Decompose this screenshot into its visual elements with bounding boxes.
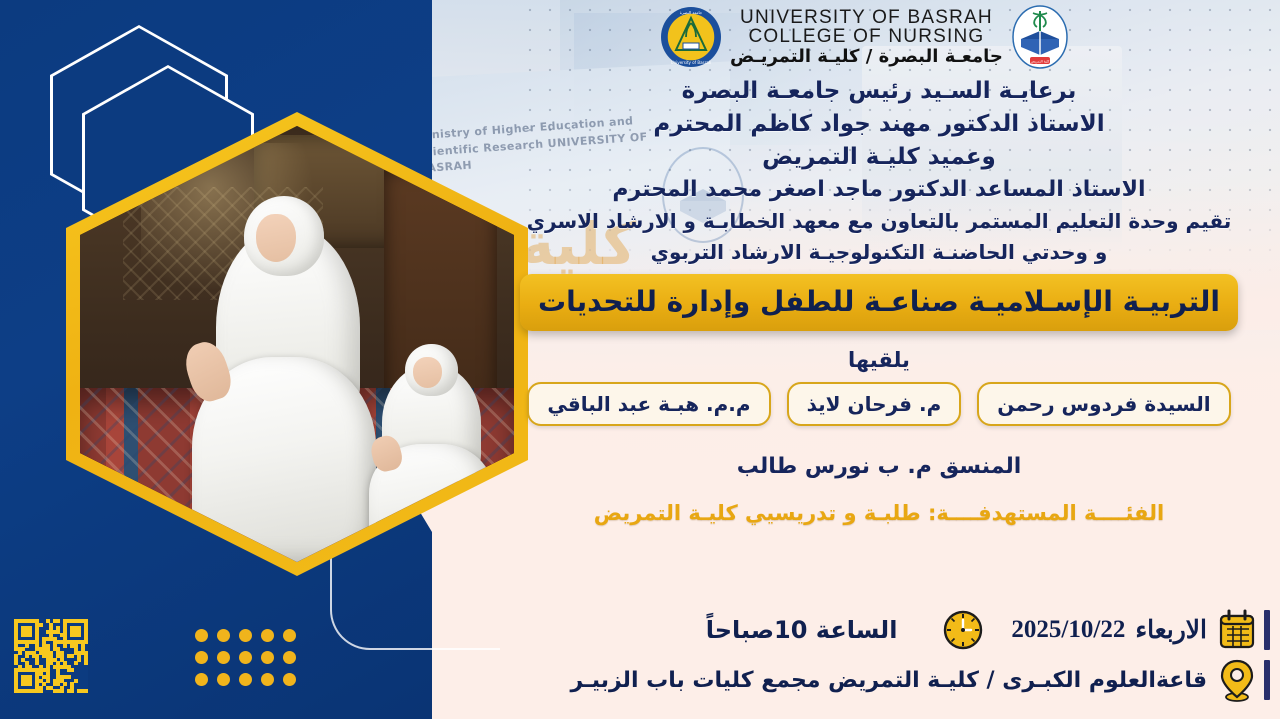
university-title: UNIVERSITY OF BASRAH COLLEGE OF NURSING …	[730, 8, 1003, 66]
patronage-line-3: وعميد كليـة التمريض	[496, 144, 1262, 170]
delivered-by-label: يلقيها	[496, 348, 1262, 372]
speaker-pill: م.م. هبـة عبد الباقي	[527, 382, 770, 426]
event-time: الساعة 10صباحاً	[706, 616, 898, 644]
event-poster: Ministry of Higher Education and Scienti…	[0, 0, 1280, 719]
patronage-line-1: برعايـة السـيد رئيس جامعـة البصرة	[496, 78, 1262, 104]
location-icon-wrap	[1217, 658, 1270, 702]
poster-content: برعايـة السـيد رئيس جامعـة البصرة الاستا…	[496, 78, 1262, 525]
university-title-en-line1: UNIVERSITY OF BASRAH	[730, 8, 1003, 27]
organizer-line-1: تقيم وحدة التعليم المستمر بالتعاون مع مع…	[496, 209, 1262, 233]
svg-text:جامعة البصرة: جامعة البصرة	[680, 10, 703, 15]
event-details: الاربعاء 2025/10/22 الساعة 10صباحاً	[10, 608, 1270, 708]
event-date: 2025/10/22	[1011, 616, 1125, 644]
accent-bar	[1264, 660, 1270, 700]
calendar-icon	[1217, 609, 1257, 651]
event-day: الاربعاء	[1135, 615, 1207, 645]
calendar-icon-wrap	[1217, 609, 1270, 651]
coordinator-line: المنسق م. ب نورس طالب	[496, 454, 1262, 479]
speaker-pill: السيدة فردوس رحمن	[977, 382, 1230, 426]
svg-text:University of Basrah: University of Basrah	[671, 60, 712, 65]
accent-bar	[1264, 610, 1270, 650]
university-title-ar: جامعـة البصرة / كليـة التمريـض	[730, 48, 1003, 66]
location-row: قاعة‌العلوم الكبـرى / كليـة التمريض مجمع…	[10, 658, 1270, 702]
patronage-line-2: الاستاذ الدكتور مهند جواد كاظم المحترم	[496, 111, 1262, 137]
college-of-nursing-seal-icon: كلية التمريض	[1011, 5, 1069, 69]
date-time-row: الاربعاء 2025/10/22 الساعة 10صباحاً	[10, 608, 1270, 652]
event-title-banner: التربيـة الإسـلاميـة صناعـة للطفل وإدارة…	[520, 274, 1238, 331]
patronage-line-4: الاستاذ المساعد الدكتور ماجد اصغر محمد ا…	[496, 177, 1262, 202]
location-pin-icon	[1217, 658, 1257, 702]
svg-text:كلية التمريض: كلية التمريض	[1031, 60, 1050, 64]
clock-icon	[941, 608, 985, 652]
organizer-line-2: و وحدتي الحاضنـة التكنولوجيـة الارشاد ال…	[496, 240, 1262, 264]
university-title-en-line2: COLLEGE OF NURSING	[730, 27, 1003, 46]
target-audience-line: الفئــــة المستهدفــــة: طلبـة و تدريسيي…	[496, 501, 1262, 525]
university-of-basrah-seal-icon: جامعة البصرة University of Basrah	[660, 6, 722, 68]
poster-header: جامعة البصرة University of Basrah UNIVER…	[660, 4, 1100, 70]
speaker-list: السيدة فردوس رحمن م. فرحان لايذ م.م. هبـ…	[496, 382, 1262, 426]
event-place: قاعة‌العلوم الكبـرى / كليـة التمريض مجمع…	[571, 668, 1207, 693]
speaker-pill: م. فرحان لايذ	[787, 382, 962, 426]
